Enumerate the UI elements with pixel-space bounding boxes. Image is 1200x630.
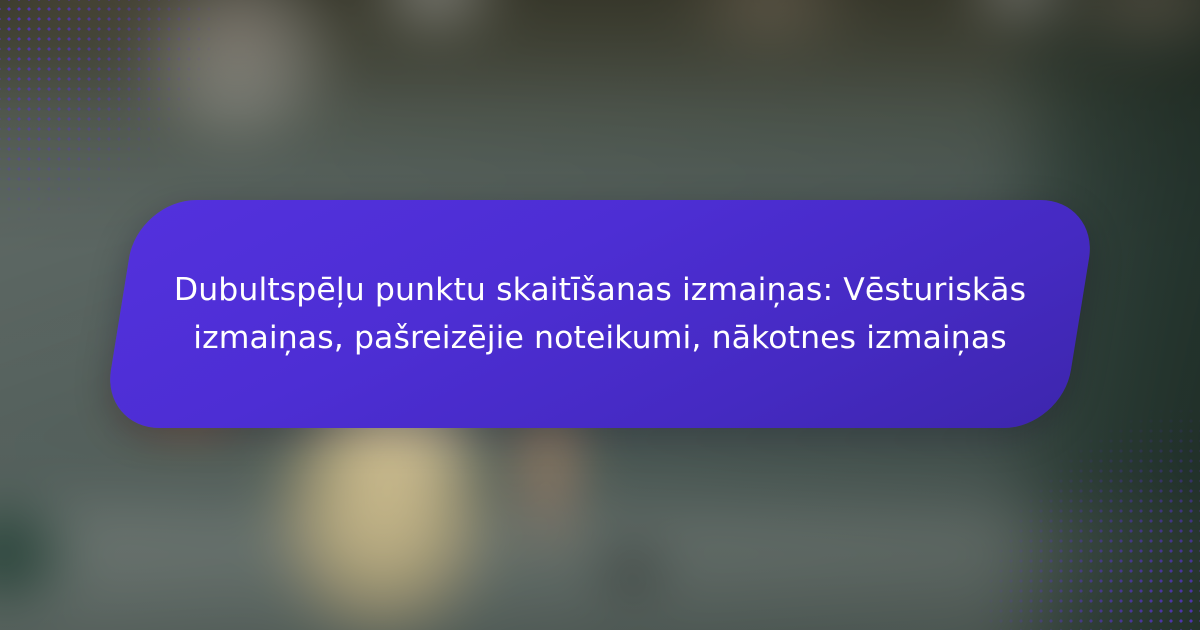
title-line-2: izmaiņas, pašreizējie noteikumi, nākotne… [193, 314, 1007, 362]
social-card-canvas: Dubultspēļu punktu skaitīšanas izmaiņas:… [0, 0, 1200, 630]
title-line-1: Dubultspēļu punktu skaitīšanas izmaiņas:… [174, 266, 1026, 314]
title-card: Dubultspēļu punktu skaitīšanas izmaiņas:… [120, 200, 1080, 428]
title-card-text-block: Dubultspēļu punktu skaitīšanas izmaiņas:… [120, 200, 1080, 428]
